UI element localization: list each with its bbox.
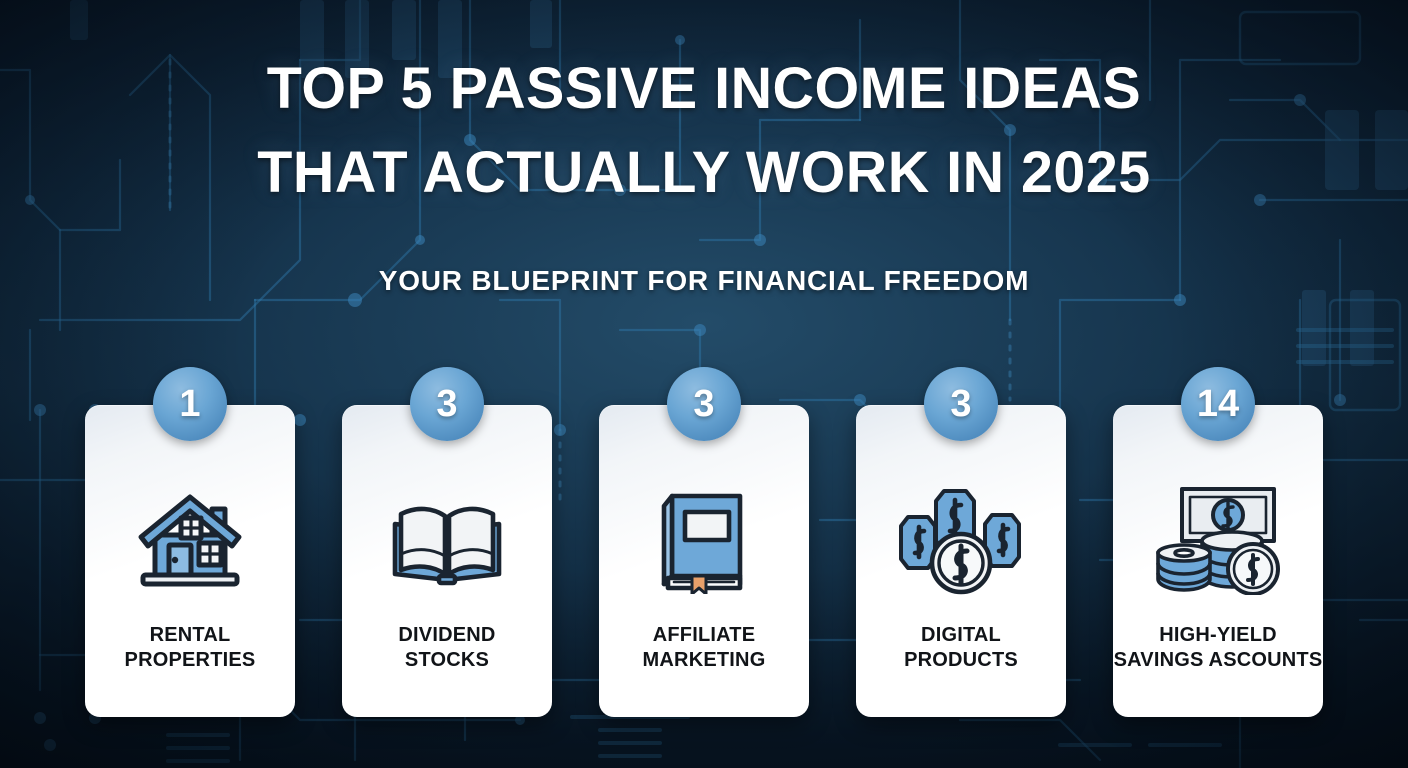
card-badge-3: 3 — [667, 367, 741, 441]
label-line-1: DIGITAL — [836, 623, 1086, 648]
label-line-2: PRODUCTS — [836, 648, 1086, 673]
label-line-1: AFFILIATE — [579, 623, 829, 648]
label-line-2: STOCKS — [322, 648, 572, 673]
card-label-affiliate-marketing: AFFILIATE MARKETING — [579, 623, 829, 673]
idea-card-high-yield-savings[interactable]: 14 — [1113, 405, 1323, 717]
card-badge-5: 14 — [1181, 367, 1255, 441]
idea-card-affiliate-marketing[interactable]: 3 AFFILIATE — [599, 405, 809, 717]
card-badge-2: 3 — [410, 367, 484, 441]
idea-card-dividend-stocks[interactable]: 3 DIVIDEND — [342, 405, 552, 717]
card-label-rental-properties: RENTAL PROPERTIES — [65, 623, 315, 673]
label-line-2: MARKETING — [579, 648, 829, 673]
label-line-1: RENTAL — [65, 623, 315, 648]
banknote-coins-icon — [1154, 483, 1282, 595]
price-tags-coin-icon — [897, 483, 1025, 595]
open-book-icon — [383, 483, 511, 595]
card-label-high-yield-savings: HIGH-YIELD SAVINGS ASCOUNTS — [1093, 623, 1343, 673]
label-line-2: SAVINGS ASCOUNTS — [1093, 648, 1343, 673]
poster-title: TOP 5 PASSIVE INCOME IDEAS THAT ACTUALLY… — [0, 60, 1408, 202]
card-label-digital-products: DIGITAL PRODUCTS — [836, 623, 1086, 673]
idea-card-rental-properties[interactable]: 1 — [85, 405, 295, 717]
title-line-2: THAT ACTUALLY WORK IN 2025 — [7, 144, 1401, 202]
idea-card-digital-products[interactable]: 3 — [856, 405, 1066, 717]
idea-card-list: 1 — [85, 405, 1323, 717]
card-badge-1: 1 — [153, 367, 227, 441]
label-line-1: HIGH-YIELD — [1093, 623, 1343, 648]
label-line-1: DIVIDEND — [322, 623, 572, 648]
title-line-1: TOP 5 PASSIVE INCOME IDEAS — [7, 60, 1401, 118]
card-label-dividend-stocks: DIVIDEND STOCKS — [322, 623, 572, 673]
label-line-2: PROPERTIES — [65, 648, 315, 673]
closed-book-icon — [640, 483, 768, 595]
infographic-poster: TOP 5 PASSIVE INCOME IDEAS THAT ACTUALLY… — [0, 0, 1408, 768]
poster-subtitle: YOUR BLUEPRINT FOR FINANCIAL FREEDOM — [0, 265, 1408, 297]
house-icon — [126, 483, 254, 595]
card-badge-4: 3 — [924, 367, 998, 441]
